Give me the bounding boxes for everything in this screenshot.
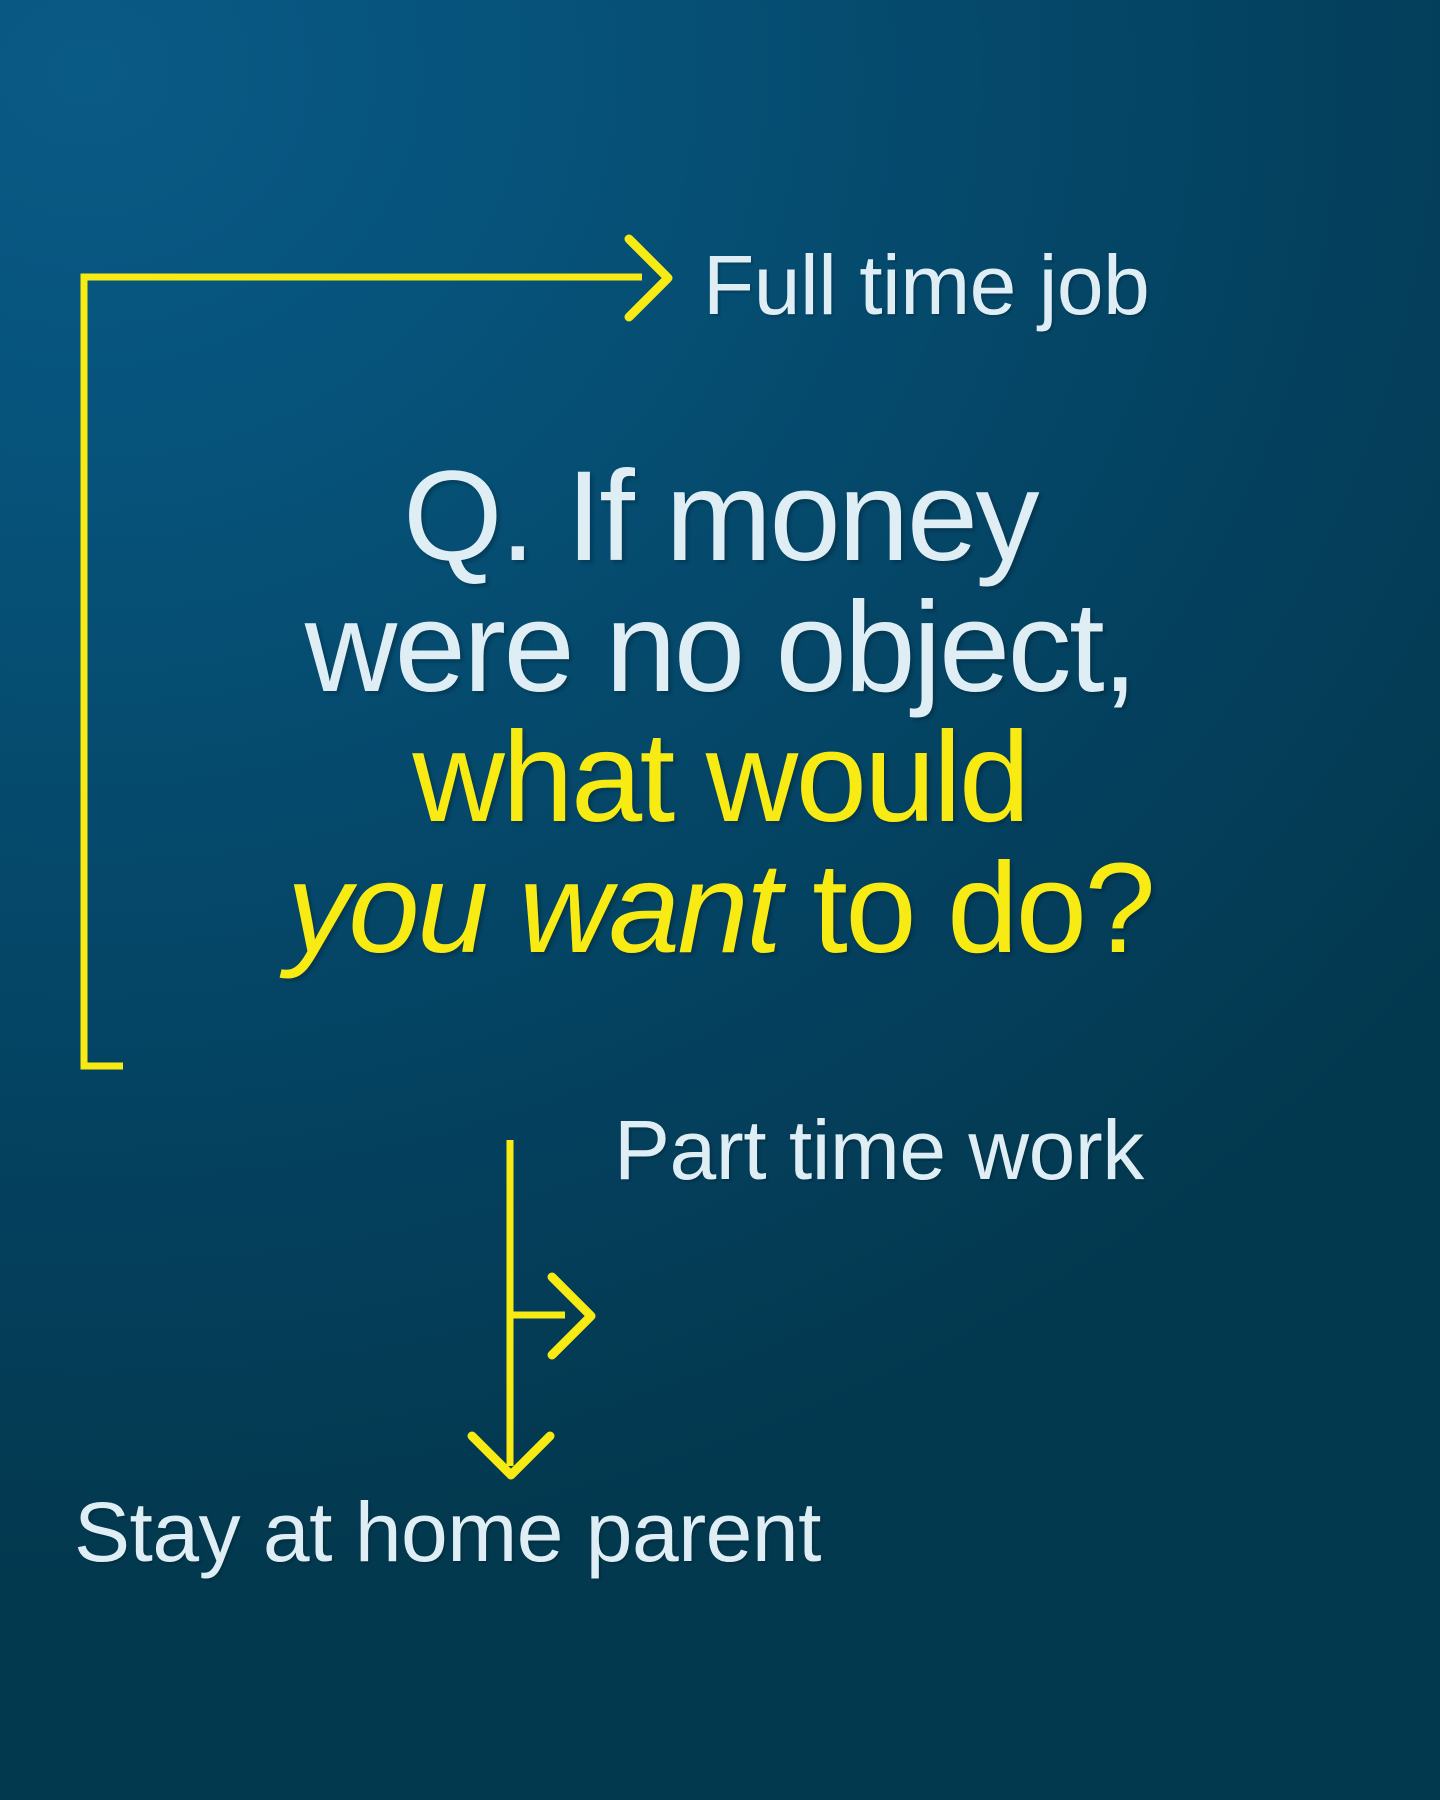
- arrow-right-icon: [629, 239, 668, 317]
- branch-label-full-time: Full time job: [703, 243, 1149, 327]
- arrow-right-icon: [552, 1277, 591, 1355]
- flowchart-canvas: Full time job Part time work Stay at hom…: [0, 0, 1440, 1800]
- question-line-4: you want to do?: [0, 844, 1440, 975]
- branch-label-stay-home: Stay at home parent: [74, 1490, 821, 1574]
- arrow-down-icon: [472, 1436, 550, 1475]
- question-line-2: were no object,: [0, 583, 1440, 714]
- branch-line-part-time: [510, 1277, 591, 1355]
- question-line-4-rest: to do?: [779, 837, 1153, 980]
- question-emphasis: you want: [287, 837, 779, 980]
- branch-label-part-time: Part time work: [614, 1108, 1144, 1192]
- question-line-3: what would: [0, 713, 1440, 844]
- question-line-1: Q. If money: [0, 452, 1440, 583]
- branch-line-stay-home: [472, 1436, 550, 1475]
- question-block: Q. If money were no object, what would y…: [0, 452, 1440, 974]
